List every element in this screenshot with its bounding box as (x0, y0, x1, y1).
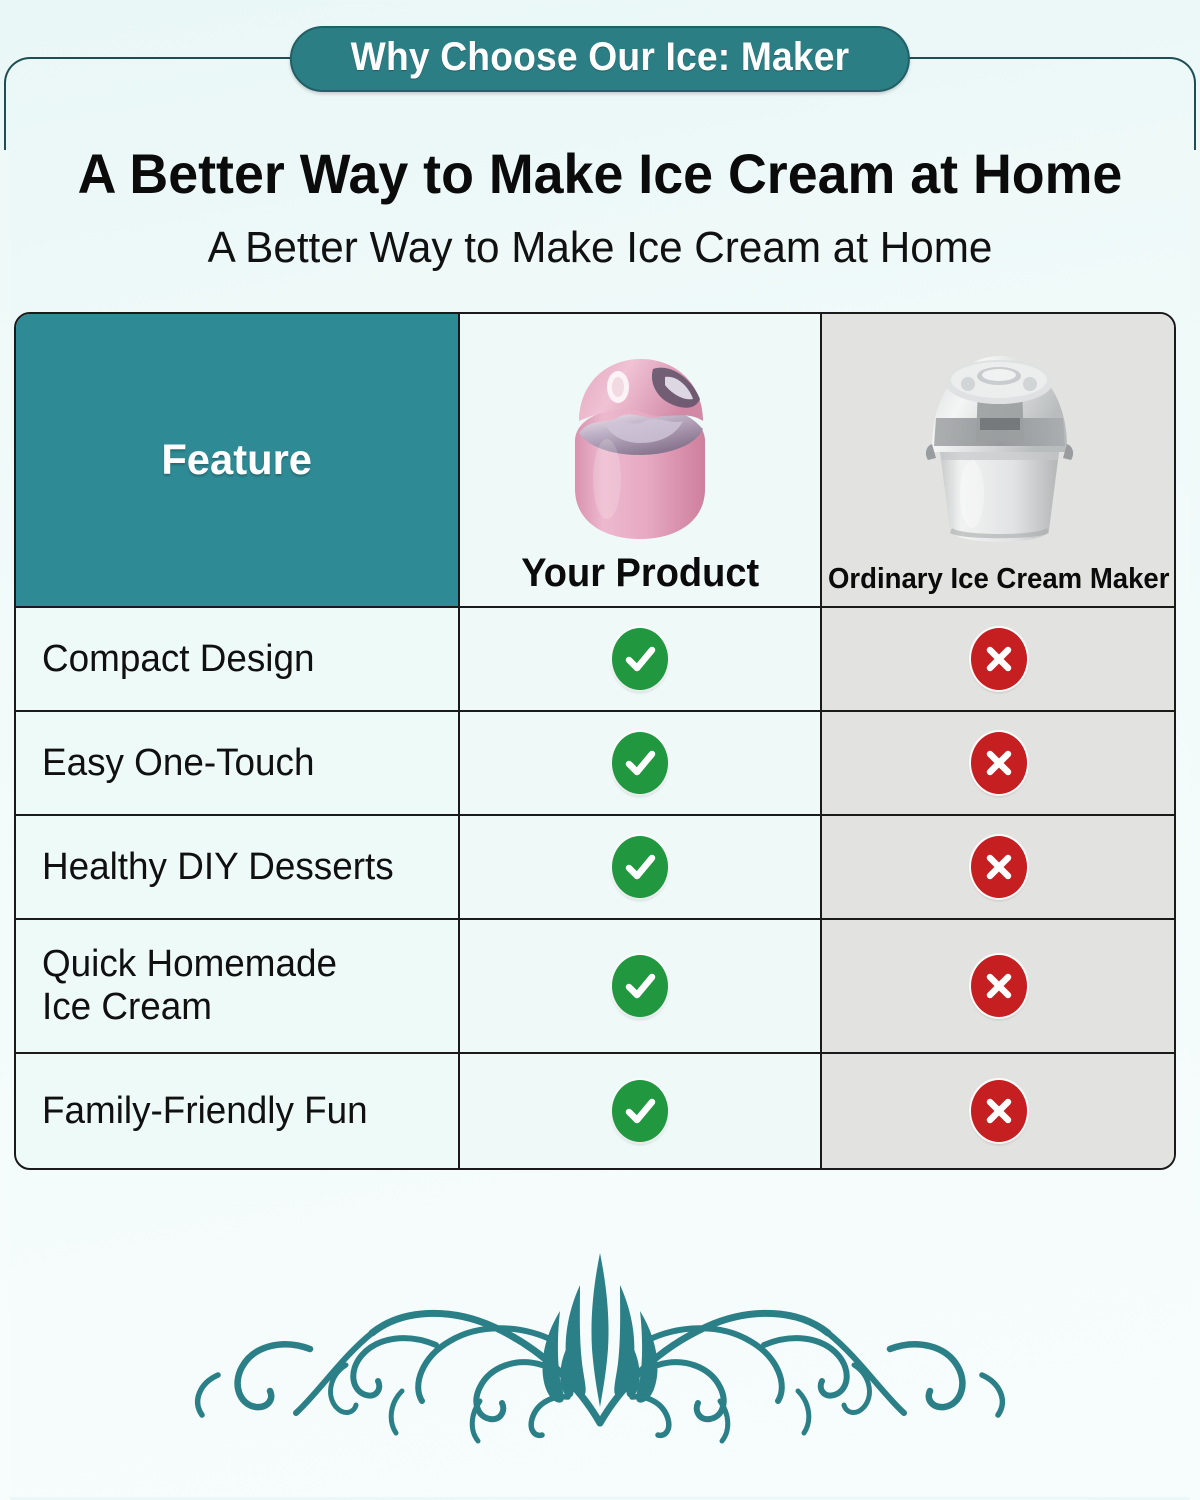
ordinary-maker-status (822, 816, 1176, 920)
feature-label: Easy One-Touch (42, 742, 314, 785)
table-row: Quick Homemade Ice Cream (16, 920, 460, 1054)
feature-label: Quick Homemade (42, 943, 337, 986)
feature-label: Compact Design (42, 638, 314, 681)
page-subheadline: A Better Way to Make Ice Cream at Home (24, 225, 1176, 271)
cross-circle-icon (971, 836, 1027, 898)
feature-label: Family-Friendly Fun (42, 1090, 368, 1133)
cross-circle-icon (971, 1080, 1027, 1142)
your-product-status (460, 1054, 822, 1168)
comparison-table: Feature (14, 312, 1176, 1170)
page-headline: A Better Way to Make Ice Cream at Home (24, 145, 1176, 204)
table-header-ordinary-maker: Ordinary Ice Cream Maker (822, 314, 1176, 608)
ordinary-maker-status (822, 1054, 1176, 1168)
title-badge-label: Why Choose Our Ice: Maker (351, 37, 850, 77)
feature-label: Healthy DIY Desserts (42, 846, 394, 889)
decorative-flourish-ornament (150, 1245, 1050, 1445)
table-row: Easy One-Touch (16, 712, 460, 816)
cross-circle-icon (971, 955, 1027, 1017)
your-product-status (460, 816, 822, 920)
your-product-status (460, 608, 822, 712)
gray-ice-cream-maker-icon (822, 314, 1176, 564)
ordinary-maker-status (822, 608, 1176, 712)
check-circle-icon (612, 1080, 668, 1142)
pink-ice-cream-maker-icon (460, 314, 820, 552)
check-circle-icon (612, 836, 668, 898)
table-row: Family-Friendly Fun (16, 1054, 460, 1168)
check-circle-icon (612, 732, 668, 794)
ordinary-maker-status (822, 920, 1176, 1054)
cross-circle-icon (971, 628, 1027, 690)
table-header-feature-label: Feature (162, 436, 313, 485)
table-row: Healthy DIY Desserts (16, 816, 460, 920)
frame-right-fade (1190, 150, 1200, 1500)
your-product-status (460, 920, 822, 1054)
table-header-your-product-label: Your Product (521, 552, 759, 594)
check-circle-icon (612, 955, 668, 1017)
table-header-ordinary-maker-label: Ordinary Ice Cream Maker (828, 564, 1169, 594)
feature-label-line2: Ice Cream (42, 986, 337, 1029)
title-badge: Why Choose Our Ice: Maker (290, 26, 910, 92)
table-header-your-product: Your Product (460, 314, 822, 608)
frame-left-fade (0, 150, 10, 1500)
table-header-feature: Feature (16, 314, 460, 608)
ordinary-maker-status (822, 712, 1176, 816)
cross-circle-icon (971, 732, 1027, 794)
table-row: Compact Design (16, 608, 460, 712)
your-product-status (460, 712, 822, 816)
check-circle-icon (612, 628, 668, 690)
